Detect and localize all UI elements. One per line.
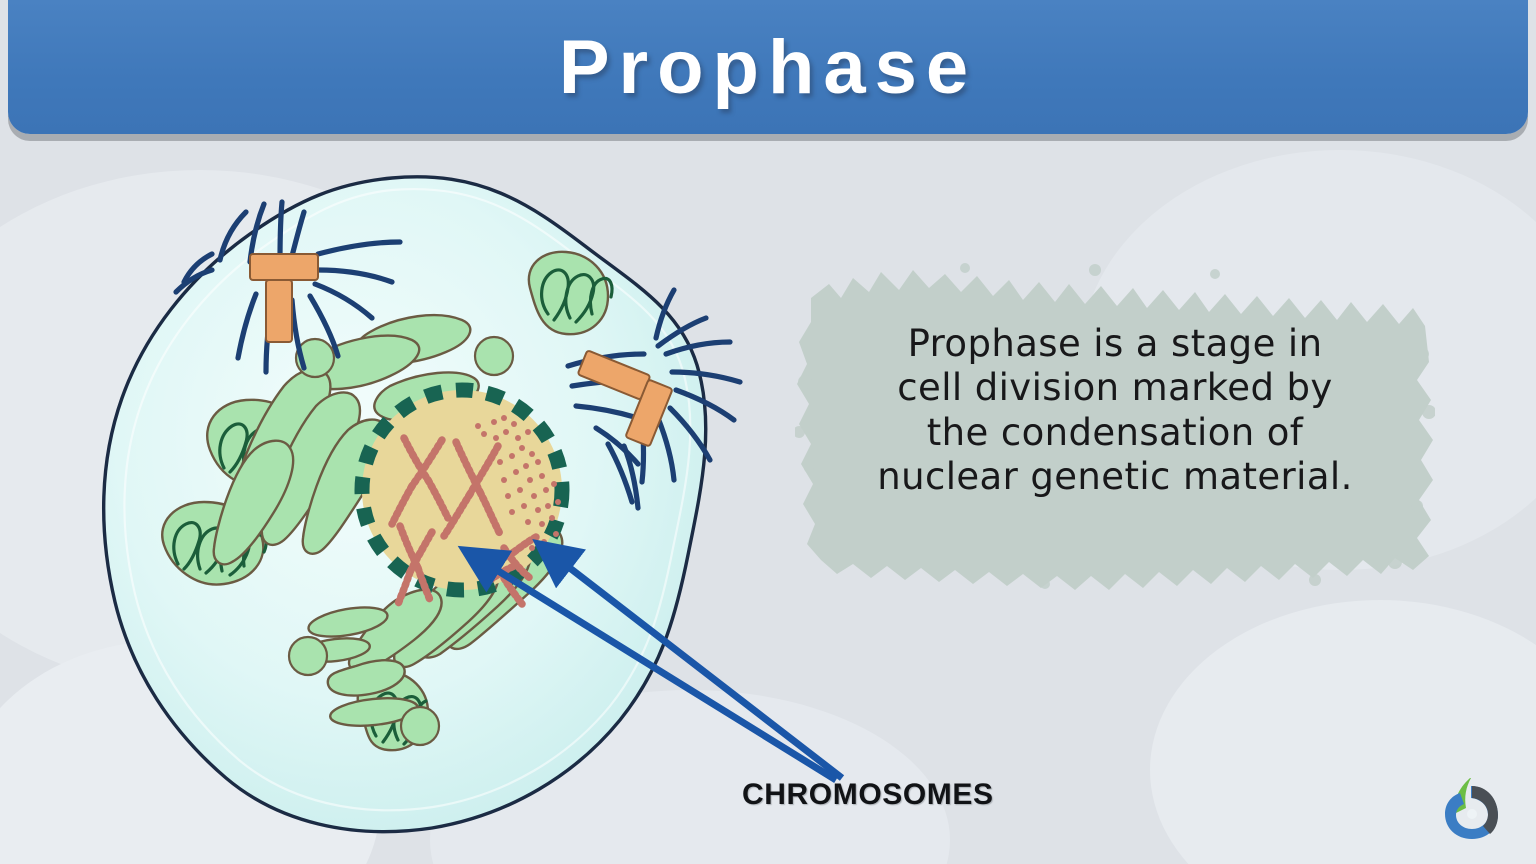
logo-crescent-icon (1472, 786, 1498, 834)
title-banner: Prophase (8, 0, 1528, 134)
biology-online-logo[interactable] (1440, 775, 1502, 841)
centriole (250, 254, 318, 280)
logo-center-dot-icon (1467, 809, 1477, 819)
cell-diagram (60, 150, 780, 850)
definition-panel: Prophase is a stage in cell division mar… (795, 262, 1435, 592)
definition-text: Prophase is a stage in cell division mar… (825, 322, 1405, 500)
nucleus (362, 390, 562, 590)
definition-line: cell division marked by (825, 366, 1405, 410)
centriole (266, 280, 292, 342)
chromosomes-label: CHROMOSOMES (742, 778, 994, 812)
definition-line: Prophase is a stage in (825, 322, 1405, 366)
page-title: Prophase (559, 30, 977, 106)
definition-line: the condensation of (825, 411, 1405, 455)
definition-line: nuclear genetic material. (825, 455, 1405, 499)
